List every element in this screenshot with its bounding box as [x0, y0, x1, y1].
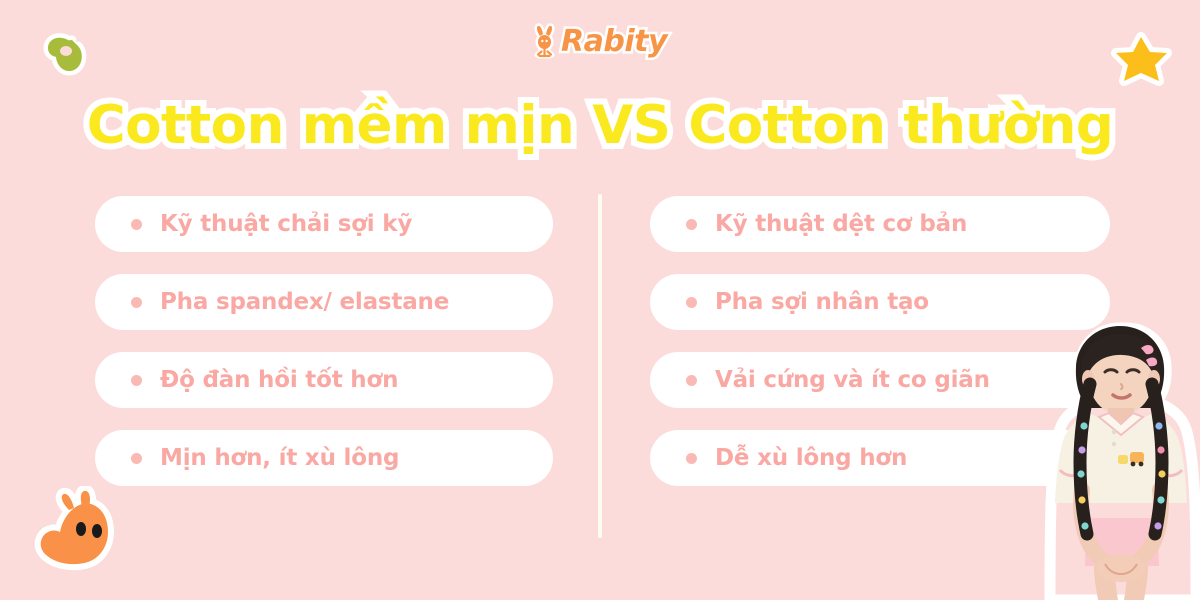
star-icon [1110, 28, 1172, 86]
right-column: Kỹ thuật dệt cơ bản Pha sợi nhân tạo Vải… [650, 196, 1110, 486]
list-item[interactable]: Pha sợi nhân tạo [650, 274, 1110, 330]
list-item-label: Pha sợi nhân tạo [715, 291, 929, 314]
bullet-icon [686, 219, 697, 230]
column-divider [598, 194, 602, 538]
leaf-icon [32, 24, 94, 82]
list-item[interactable]: Mịn hơn, ít xù lông [95, 430, 553, 486]
left-column: Kỹ thuật chải sợi kỹ Pha spandex/ elasta… [95, 196, 553, 486]
brand-name: Rabity [561, 27, 667, 57]
list-item[interactable]: Kỹ thuật dệt cơ bản [650, 196, 1110, 252]
list-item[interactable]: Kỹ thuật chải sợi kỹ [95, 196, 553, 252]
list-item-label: Độ đàn hồi tốt hơn [160, 369, 398, 392]
bullet-icon [131, 375, 142, 386]
list-item[interactable]: Dễ xù lông hơn [650, 430, 1110, 486]
rabbit-icon [532, 23, 558, 61]
list-item-label: Kỹ thuật chải sợi kỹ [160, 213, 412, 236]
list-item-label: Kỹ thuật dệt cơ bản [715, 213, 967, 236]
bullet-icon [131, 453, 142, 464]
page-title: Cotton mềm mịn VS Cotton thường [0, 88, 1200, 164]
list-item-label: Dễ xù lông hơn [715, 447, 907, 470]
list-item[interactable]: Vải cứng và ít co giãn [650, 352, 1110, 408]
list-item[interactable]: Độ đàn hồi tốt hơn [95, 352, 553, 408]
bullet-icon [131, 297, 142, 308]
girl-photo [1042, 322, 1200, 600]
poster-canvas: Rabity Cotton mềm mịn VS Cotton thường K… [0, 0, 1200, 600]
list-item-label: Mịn hơn, ít xù lông [160, 447, 399, 470]
list-item[interactable]: Pha spandex/ elastane [95, 274, 553, 330]
brand-logo[interactable]: Rabity [532, 18, 672, 66]
bullet-icon [686, 297, 697, 308]
bullet-icon [131, 219, 142, 230]
list-item-label: Pha spandex/ elastane [160, 291, 449, 314]
list-item-label: Vải cứng và ít co giãn [715, 369, 990, 392]
bullet-icon [686, 453, 697, 464]
bullet-icon [686, 375, 697, 386]
bunny-icon [28, 486, 136, 584]
